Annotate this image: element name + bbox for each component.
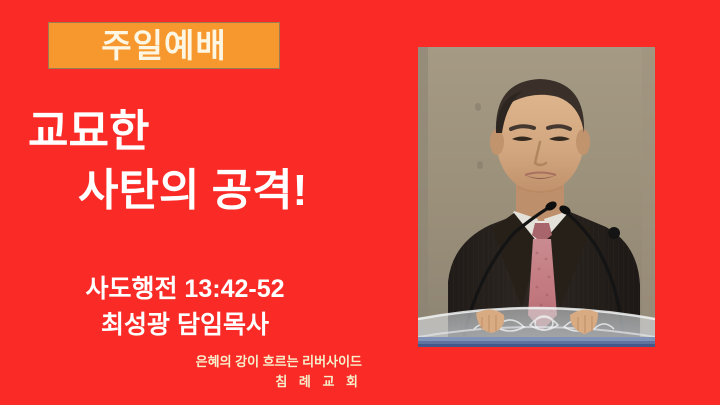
service-type-badge: 주일예배 xyxy=(48,22,280,69)
service-type-label: 주일예배 xyxy=(101,29,226,62)
sermon-title: 교묘한 사탄의 공격! xyxy=(0,103,410,220)
preacher-photo xyxy=(418,47,655,347)
church-name-block: 은혜의 강이 흐르는 리버사이드 침 례 교 회 xyxy=(0,352,410,392)
text-column: 주일예배 교묘한 사탄의 공격! 사도행전 13:42-52 최성광 담임목사 … xyxy=(0,0,410,405)
church-tagline: 은혜의 강이 흐르는 리버사이드 xyxy=(0,352,362,372)
scripture-reference-block: 사도행전 13:42-52 최성광 담임목사 xyxy=(0,272,410,343)
preacher-name: 최성광 담임목사 xyxy=(0,308,370,344)
preacher-photo-graphic xyxy=(418,47,655,347)
sermon-title-slide: 주일예배 교묘한 사탄의 공격! 사도행전 13:42-52 최성광 담임목사 … xyxy=(0,0,720,405)
scripture-reference: 사도행전 13:42-52 xyxy=(0,272,370,308)
sermon-title-line-2: 사탄의 공격! xyxy=(0,162,410,221)
church-name: 침 례 교 회 xyxy=(0,372,362,392)
sermon-title-line-1: 교묘한 xyxy=(0,103,410,162)
